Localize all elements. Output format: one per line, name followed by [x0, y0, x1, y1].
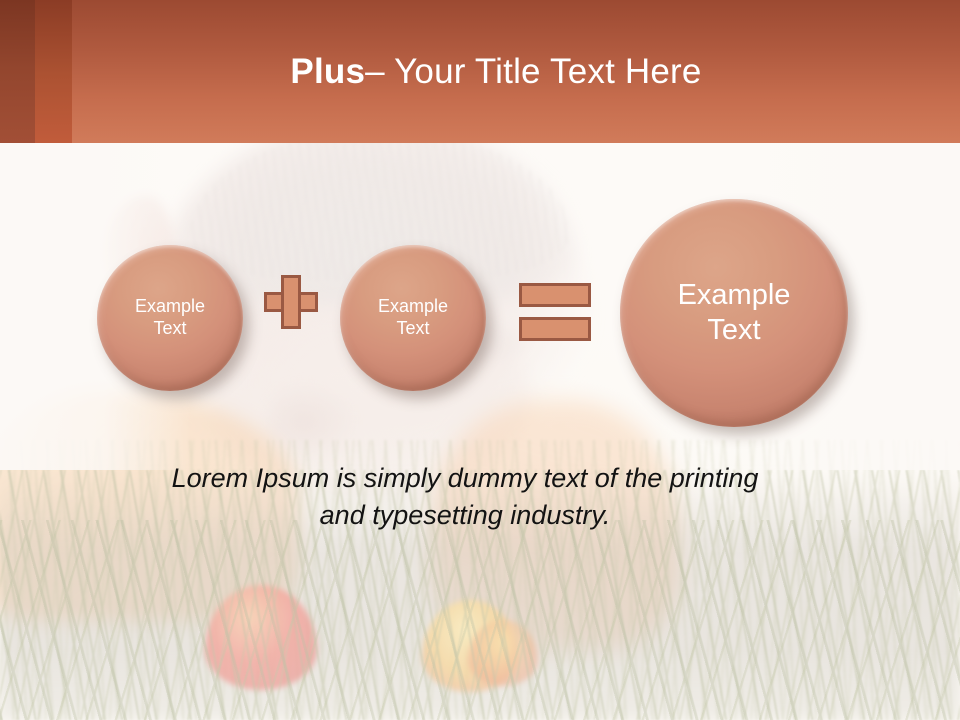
operand-b-line1: Example: [378, 296, 448, 318]
header-accent-band-dark: [0, 0, 35, 143]
plus-icon: [264, 275, 318, 329]
presentation-slide: Plus – Your Title Text Here Example Text…: [0, 0, 960, 720]
slide-header: Plus – Your Title Text Here: [0, 0, 960, 143]
plus-icon-center-fill: [284, 295, 298, 309]
slide-title: Plus – Your Title Text Here: [72, 0, 920, 143]
result-line1: Example: [678, 278, 791, 313]
header-accent-band-mid: [35, 0, 72, 143]
diagram-operand-a-circle[interactable]: Example Text: [97, 245, 243, 391]
equals-icon-top-bar: [519, 283, 591, 307]
operand-a-line2: Text: [153, 318, 186, 340]
caption-line-1: Lorem Ipsum is simply dummy text of the …: [110, 460, 820, 497]
caption-line-2: and typesetting industry.: [110, 497, 820, 534]
concept-diagram: Example Text Example Text Example Text: [0, 143, 960, 453]
diagram-operand-b-circle[interactable]: Example Text: [340, 245, 486, 391]
operand-b-line2: Text: [396, 318, 429, 340]
result-line2: Text: [707, 313, 760, 348]
slide-title-strong: Plus: [290, 52, 365, 92]
equals-icon: [519, 283, 591, 341]
operand-a-line1: Example: [135, 296, 205, 318]
slide-title-rest: – Your Title Text Here: [365, 52, 701, 92]
slide-caption: Lorem Ipsum is simply dummy text of the …: [110, 460, 820, 535]
equals-icon-bottom-bar: [519, 317, 591, 341]
diagram-result-circle[interactable]: Example Text: [620, 199, 848, 427]
